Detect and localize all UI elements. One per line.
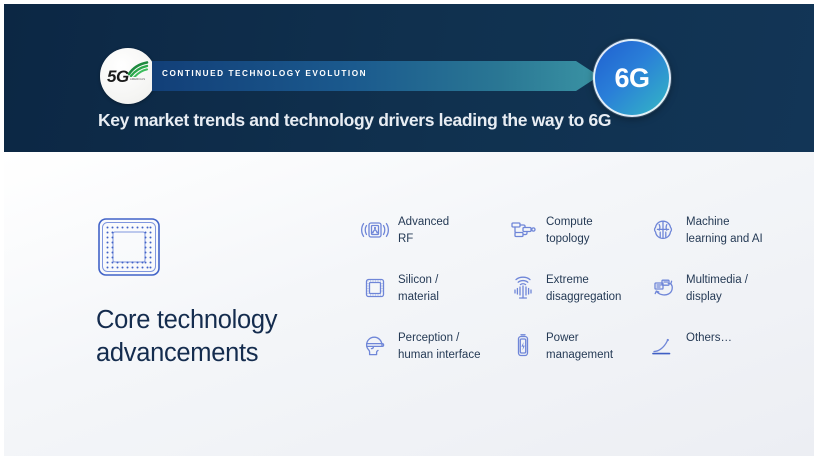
core-technology-block: Core technology advancements [96,217,346,370]
tech-item-label: Multimedia / display [686,271,748,306]
label-line-2: display [686,291,722,303]
tech-item-label: Compute topology [546,213,593,248]
label-line-2: disaggregation [546,291,621,303]
tech-item-label: Power management [546,329,613,364]
logo-subtext: AMERICAS [130,78,145,81]
badge-6g-label: 6G [614,65,649,92]
page-title-line-1: Core technology [96,304,346,337]
tech-item-label: Perception / human interface [398,329,480,364]
tech-item-machine-learning-ai[interactable]: Machine learning and AI [648,213,790,271]
machine-learning-icon [648,215,678,245]
label-line-1: Silicon / [398,274,438,286]
extreme-disaggregation-icon [508,273,538,303]
page-title-line-2: advancements [96,337,346,370]
power-management-icon [508,331,538,361]
header-subtitle: Key market trends and technology drivers… [98,110,611,131]
technology-items-grid: Advanced RF [360,213,790,387]
label-line-1: Advanced [398,216,449,228]
label-line-1: Perception / [398,332,459,344]
tech-item-power-management[interactable]: Power management [508,329,648,387]
label-line-2: topology [546,233,589,245]
multimedia-display-icon [648,273,678,303]
label-line-2: material [398,291,439,303]
badge-6g: 6G [593,39,671,117]
tech-item-advanced-rf[interactable]: Advanced RF [360,213,508,271]
tech-item-others[interactable]: Others… [648,329,790,387]
label-line-1: Power [546,332,579,344]
tech-item-silicon-material[interactable]: Silicon / material [360,271,508,329]
tech-item-label: Advanced RF [398,213,449,248]
label-line-2: human interface [398,349,480,361]
slide-header: 5G AMERICAS C [4,4,814,152]
logo-5g-text: 5G [107,68,129,85]
logo-wave-icon [127,61,149,77]
label-line-1: Multimedia / [686,274,748,286]
perception-human-interface-icon [360,331,390,361]
tech-item-label: Silicon / material [398,271,439,306]
evolution-arrow-label: CONTINUED TECHNOLOGY EVOLUTION [162,69,367,78]
tech-item-label: Extreme disaggregation [546,271,621,306]
label-line-2: RF [398,233,413,245]
chip-icon [96,217,162,279]
tech-item-label: Others… [686,329,732,347]
others-icon [648,331,678,361]
logo-5g-americas: 5G AMERICAS [100,48,156,104]
tech-item-perception-human-interface[interactable]: Perception / human interface [360,329,508,387]
label-line-1: Others… [686,332,732,344]
advanced-rf-icon [360,215,390,245]
label-line-1: Compute [546,216,593,228]
slide: 5G AMERICAS C [0,0,814,458]
label-line-1: Machine [686,216,729,228]
page-title: Core technology advancements [96,304,346,370]
compute-topology-icon [508,215,538,245]
tech-item-label: Machine learning and AI [686,213,763,248]
slide-body: Core technology advancements [4,152,814,456]
tech-item-multimedia-display[interactable]: Multimedia / display [648,271,790,329]
tech-item-extreme-disaggregation[interactable]: Extreme disaggregation [508,271,648,329]
silicon-material-icon [360,273,390,303]
label-line-2: management [546,349,613,361]
tech-item-compute-topology[interactable]: Compute topology [508,213,648,271]
label-line-2: learning and AI [686,233,763,245]
label-line-1: Extreme [546,274,589,286]
